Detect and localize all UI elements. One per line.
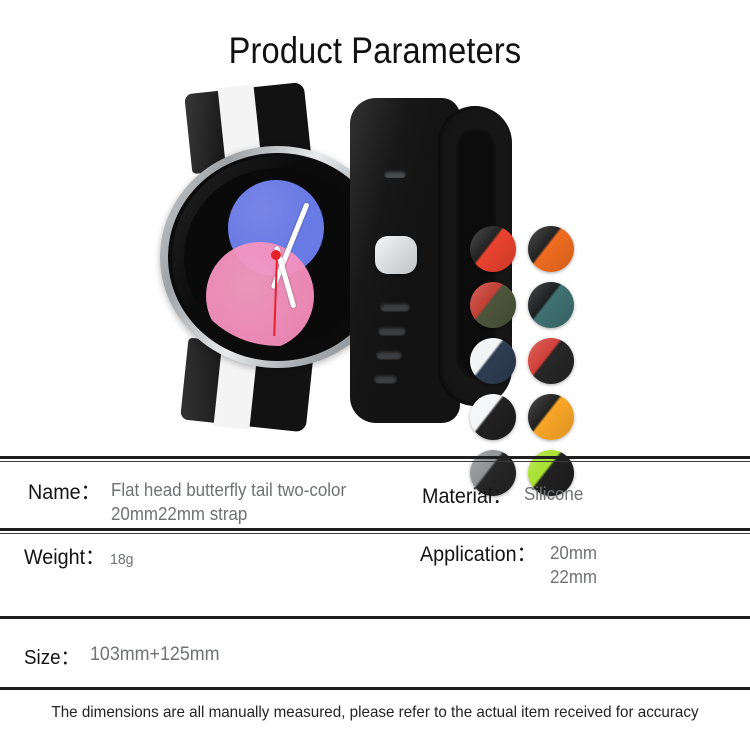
table-divider-thin <box>0 461 750 462</box>
spec-label-weight: Weight： <box>24 541 105 571</box>
watchface-pink-circle <box>206 242 314 346</box>
swatch-gloss <box>528 394 574 440</box>
product-image <box>0 88 750 433</box>
spec-label-size: Size： <box>24 641 79 670</box>
swatch-gloss <box>528 338 574 384</box>
strap-hole <box>376 350 402 359</box>
spec-value-application: 20mm 22mm <box>550 541 597 590</box>
swatch-gloss <box>528 282 574 328</box>
swatch-gloss <box>470 338 516 384</box>
swatch-gloss <box>528 226 574 272</box>
spec-row-name: Name： Flat head butterfly tail two-color… <box>28 476 401 527</box>
color-swatch[interactable] <box>470 394 516 440</box>
color-swatch[interactable] <box>470 338 516 384</box>
spec-label-material: Material： <box>422 480 512 510</box>
strap-hole <box>378 326 406 335</box>
swatch-gloss <box>470 394 516 440</box>
color-swatch[interactable] <box>470 226 516 272</box>
table-divider <box>0 616 750 619</box>
color-swatch[interactable] <box>528 338 574 384</box>
strap-metal-stud <box>375 236 417 274</box>
table-divider <box>0 528 750 531</box>
swatch-gloss <box>470 282 516 328</box>
application-size-1: 20mm <box>550 543 597 563</box>
page-title: Product Parameters <box>45 30 705 72</box>
spec-row-size: Size： 103mm+125mm <box>24 641 228 670</box>
spec-value-size: 103mm+125mm <box>90 642 220 668</box>
spec-row-material: Material： Silicone <box>422 480 587 510</box>
spec-value-name: Flat head butterfly tail two-color 20mm2… <box>111 478 384 527</box>
table-divider <box>0 456 750 459</box>
strap-vent-slot <box>384 170 406 178</box>
spec-label-name: Name： <box>28 476 100 506</box>
table-divider <box>0 687 750 690</box>
swatch-gloss <box>470 226 516 272</box>
spec-row-application: Application： 20mm 22mm <box>420 538 600 590</box>
color-swatch[interactable] <box>528 394 574 440</box>
spec-label-application: Application： <box>420 538 536 568</box>
strap-hole <box>380 302 410 311</box>
spec-value-material: Silicone <box>524 482 583 506</box>
table-divider-thin <box>0 533 750 534</box>
spec-row-weight: Weight： 18g <box>24 541 135 571</box>
measurement-disclaimer: The dimensions are all manually measured… <box>19 704 732 722</box>
hands-center-pin <box>271 250 281 260</box>
application-size-2: 22mm <box>550 565 597 589</box>
color-swatch[interactable] <box>470 282 516 328</box>
strap-hole <box>374 374 397 383</box>
color-swatch[interactable] <box>528 226 574 272</box>
spec-value-weight: 18g <box>110 550 134 570</box>
color-swatch[interactable] <box>528 282 574 328</box>
